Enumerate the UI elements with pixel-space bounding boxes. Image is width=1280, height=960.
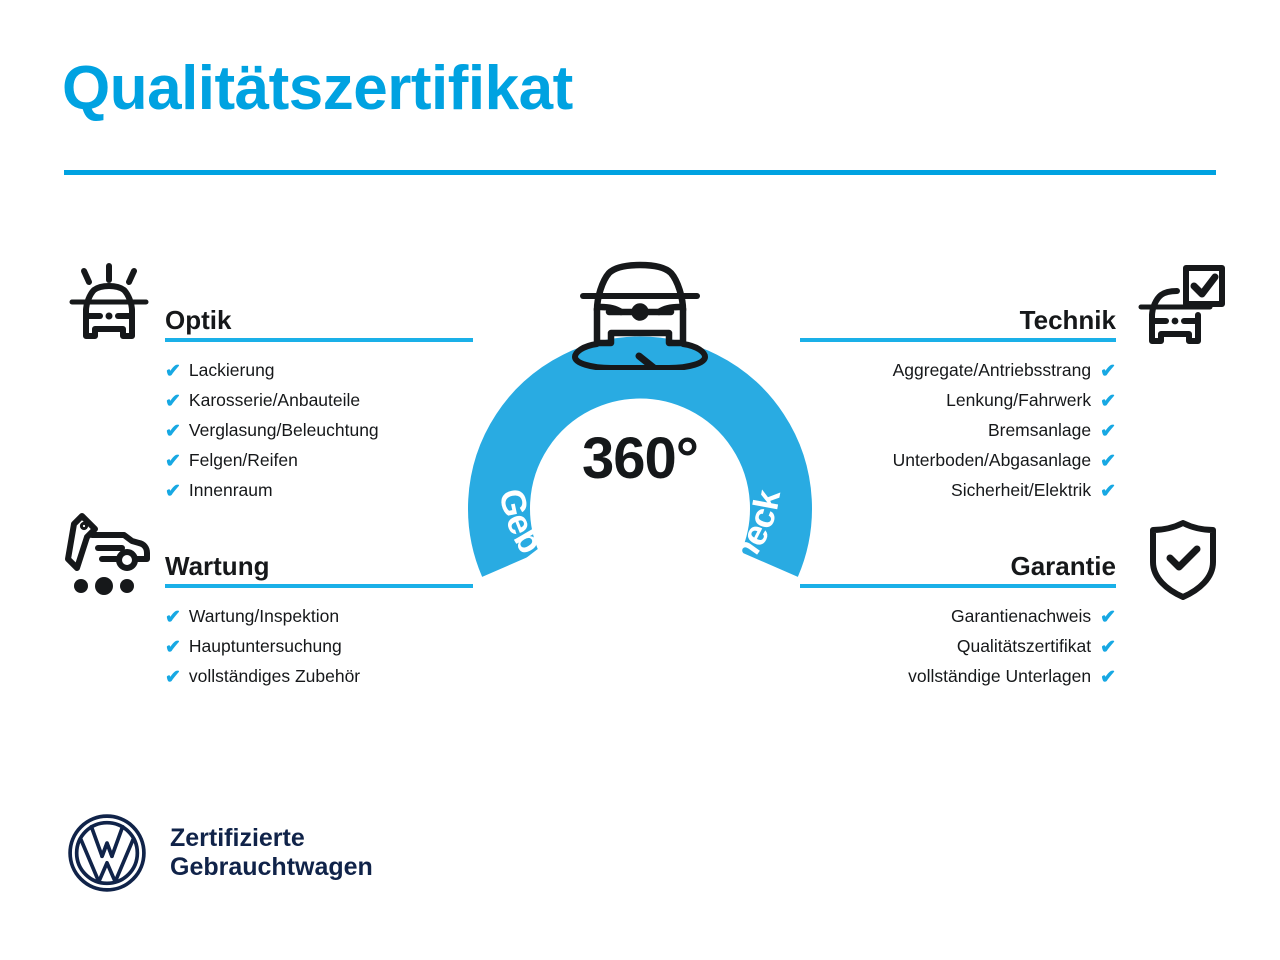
section-head-technik: Technik	[800, 296, 1116, 342]
section-head-wartung: Wartung	[165, 542, 473, 588]
check-icon: ✔	[1100, 638, 1116, 657]
section-title-garantie: Garantie	[1011, 551, 1117, 582]
car-service-tool-icon	[62, 510, 156, 596]
section-wartung: Wartung ✔ Wartung/Inspektion ✔ Hauptunte…	[165, 542, 473, 692]
list-item-label: Felgen/Reifen	[189, 452, 298, 470]
footer-line-1: Zertifizierte	[170, 824, 373, 853]
check-icon: ✔	[1100, 422, 1116, 441]
check-icon: ✔	[1100, 668, 1116, 687]
section-head-optik: Optik	[165, 296, 473, 342]
list-item: Qualitätszertifikat ✔	[800, 632, 1116, 662]
shield-check-icon	[1145, 518, 1221, 602]
list-item-label: Aggregate/Antriebsstrang	[893, 362, 1091, 380]
list-item-label: Wartung/Inspektion	[189, 608, 339, 626]
checklist-wartung: ✔ Wartung/Inspektion ✔ Hauptuntersuchung…	[165, 602, 473, 692]
check-icon: ✔	[165, 482, 181, 501]
list-item: ✔ Karosserie/Anbauteile	[165, 386, 473, 416]
list-item: ✔ Hauptuntersuchung	[165, 632, 473, 662]
gebrauchtwagen-check-badge: Gebrauchtwagen-Check 360°	[463, 258, 817, 626]
certificate-page: Qualitätszertifikat Optik ✔ Lackierung ✔…	[0, 0, 1280, 960]
list-item-label: vollständige Unterlagen	[908, 668, 1091, 686]
footer-text: Zertifizierte Gebrauchtwagen	[170, 824, 373, 882]
car-rotation-icon	[561, 258, 719, 370]
list-item-label: Hauptuntersuchung	[189, 638, 342, 656]
list-item-label: Sicherheit/Elektrik	[951, 482, 1091, 500]
check-icon: ✔	[165, 452, 181, 471]
section-divider-garantie	[800, 584, 1116, 588]
title-divider	[64, 170, 1216, 175]
section-divider-technik	[800, 338, 1116, 342]
list-item: Garantienachweis ✔	[800, 602, 1116, 632]
list-item-label: Verglasung/Beleuchtung	[189, 422, 379, 440]
section-title-optik: Optik	[165, 305, 231, 336]
list-item-label: Garantienachweis	[951, 608, 1091, 626]
check-icon: ✔	[165, 392, 181, 411]
footer-brand: Zertifizierte Gebrauchtwagen	[66, 812, 373, 894]
list-item-label: Karosserie/Anbauteile	[189, 392, 360, 410]
list-item: ✔ Felgen/Reifen	[165, 446, 473, 476]
list-item-label: Innenraum	[189, 482, 273, 500]
list-item: ✔ Innenraum	[165, 476, 473, 506]
list-item: vollständige Unterlagen ✔	[800, 662, 1116, 692]
list-item-label: Lenkung/Fahrwerk	[946, 392, 1091, 410]
section-title-wartung: Wartung	[165, 551, 269, 582]
checklist-garantie: Garantienachweis ✔ Qualitätszertifikat ✔…	[800, 602, 1116, 692]
list-item: ✔ Wartung/Inspektion	[165, 602, 473, 632]
check-icon: ✔	[165, 362, 181, 381]
section-divider-wartung	[165, 584, 473, 588]
check-icon: ✔	[1100, 452, 1116, 471]
check-icon: ✔	[165, 668, 181, 687]
list-item-label: Qualitätszertifikat	[957, 638, 1091, 656]
list-item: Sicherheit/Elektrik ✔	[800, 476, 1116, 506]
section-garantie: Garantie Garantienachweis ✔ Qualitätszer…	[800, 542, 1116, 692]
check-icon: ✔	[1100, 482, 1116, 501]
car-checkbox-icon	[1136, 264, 1226, 352]
check-icon: ✔	[165, 422, 181, 441]
checklist-technik: Aggregate/Antriebsstrang ✔ Lenkung/Fahrw…	[800, 356, 1116, 506]
section-head-garantie: Garantie	[800, 542, 1116, 588]
car-shine-icon	[62, 258, 156, 350]
list-item: Bremsanlage ✔	[800, 416, 1116, 446]
check-icon: ✔	[1100, 608, 1116, 627]
list-item-label: Unterboden/Abgasanlage	[893, 452, 1092, 470]
volkswagen-logo	[66, 812, 148, 894]
section-optik: Optik ✔ Lackierung ✔ Karosserie/Anbautei…	[165, 296, 473, 506]
section-technik: Technik Aggregate/Antriebsstrang ✔ Lenku…	[800, 296, 1116, 506]
check-icon: ✔	[165, 608, 181, 627]
svg-text:Gebrauchtwagen-Check: Gebrauchtwagen-Check	[491, 486, 788, 626]
footer-line-2: Gebrauchtwagen	[170, 853, 373, 882]
checklist-optik: ✔ Lackierung ✔ Karosserie/Anbauteile ✔ V…	[165, 356, 473, 506]
list-item: Unterboden/Abgasanlage ✔	[800, 446, 1116, 476]
list-item: Lenkung/Fahrwerk ✔	[800, 386, 1116, 416]
list-item: ✔ Verglasung/Beleuchtung	[165, 416, 473, 446]
list-item: ✔ Lackierung	[165, 356, 473, 386]
list-item-label: Bremsanlage	[988, 422, 1091, 440]
check-icon: ✔	[165, 638, 181, 657]
check-icon: ✔	[1100, 362, 1116, 381]
badge-ring-text: Gebrauchtwagen-Check	[491, 486, 788, 626]
list-item-label: Lackierung	[189, 362, 275, 380]
list-item: Aggregate/Antriebsstrang ✔	[800, 356, 1116, 386]
check-icon: ✔	[1100, 392, 1116, 411]
section-title-technik: Technik	[1020, 305, 1116, 336]
page-title: Qualitätszertifikat	[62, 56, 573, 121]
section-divider-optik	[165, 338, 473, 342]
badge-center-value: 360°	[463, 430, 817, 488]
list-item: ✔ vollständiges Zubehör	[165, 662, 473, 692]
list-item-label: vollständiges Zubehör	[189, 668, 360, 686]
